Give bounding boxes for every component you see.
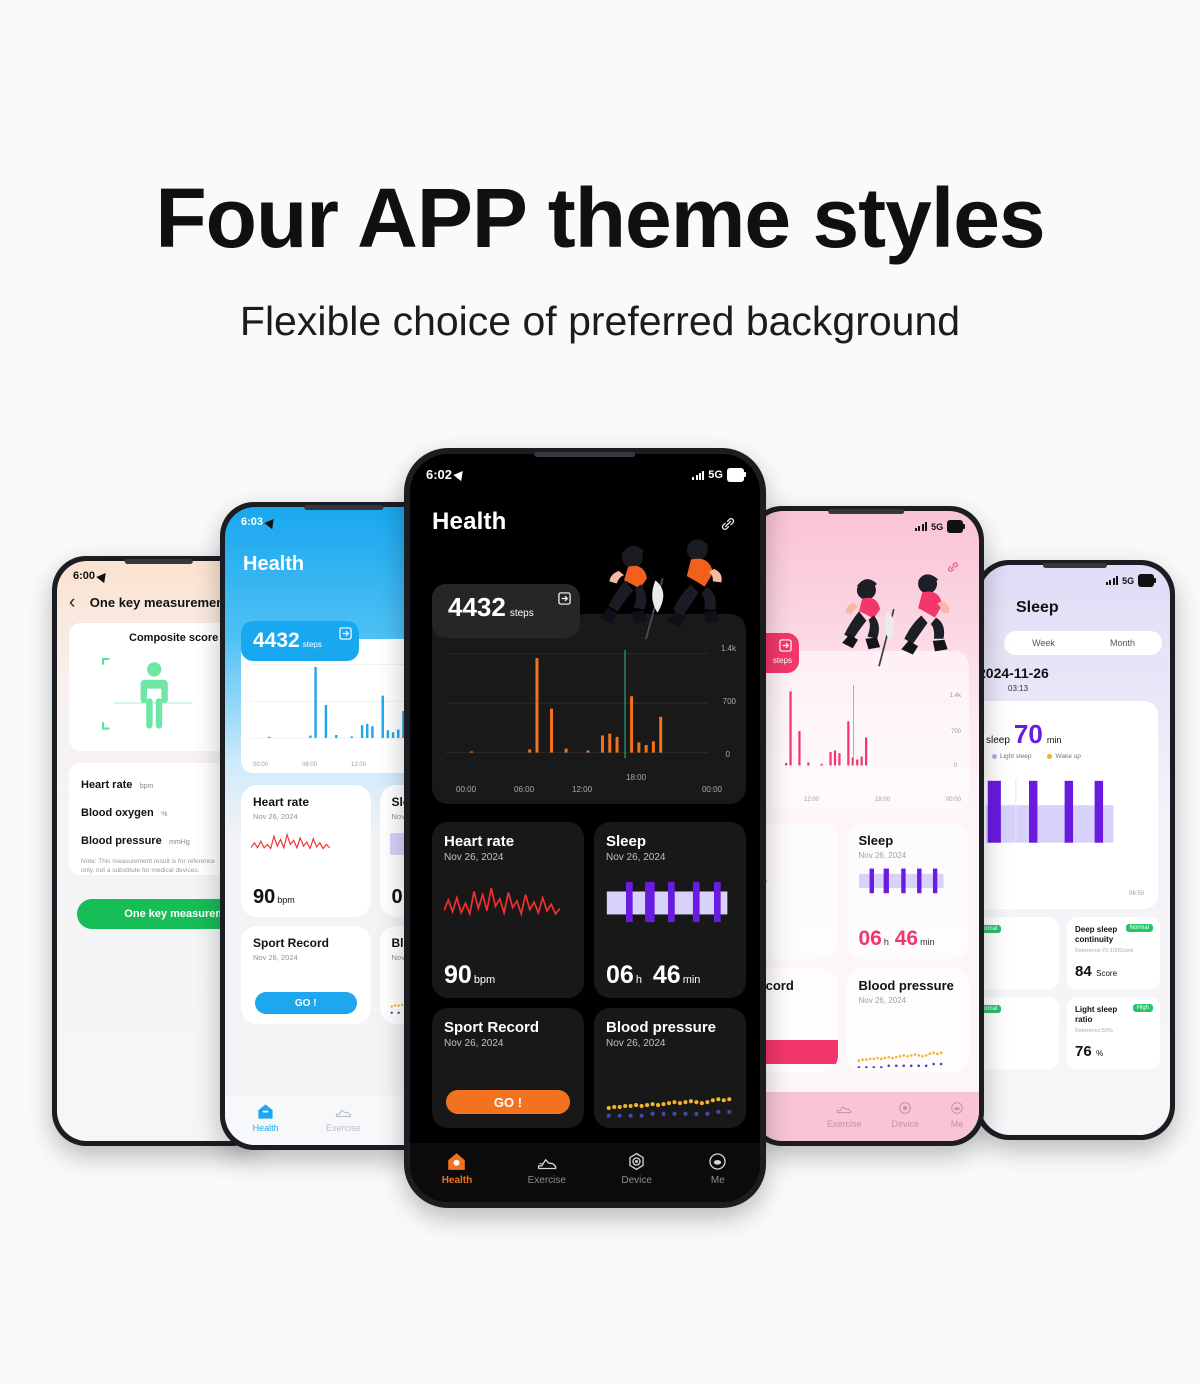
measurement-note: Note: This measurement result is for ref… [81, 857, 219, 876]
bottom-nav: Exercise Device Me [753, 1092, 979, 1141]
steps-card[interactable]: 4432 steps [241, 621, 359, 661]
steps-chart-card[interactable]: 1.4k 700 0 00:00 06:00 12:00 18:00 00:00 [432, 614, 746, 804]
heart-rate-line-icon [251, 829, 333, 855]
tab-week[interactable]: Week [1004, 631, 1083, 655]
signal-bars-icon [1106, 576, 1118, 585]
go-button[interactable]: GO ! [255, 992, 357, 1014]
steps-bar-chart [753, 685, 895, 769]
network-label: 5G [708, 469, 723, 481]
card-date: Nov 26, 2024 [606, 1038, 734, 1049]
status-badge: Normal [1126, 924, 1153, 932]
card-title: Deep sleep continuity [1075, 925, 1133, 946]
tab-label: Exercise [326, 1123, 361, 1133]
y-tick: 0 [954, 763, 957, 769]
tab-label: Device [891, 1119, 919, 1129]
metric-unit: % [161, 811, 167, 818]
sleep-stage-chart [984, 769, 1134, 847]
metric-label: Heart rate [81, 779, 132, 791]
heart-rate-line-icon [444, 884, 562, 918]
y-tick: 0 [726, 750, 730, 759]
card-value: 06h 46min [859, 928, 935, 949]
tab-month[interactable]: Month [1083, 631, 1162, 655]
link-icon[interactable] [718, 514, 738, 534]
summary-prefix: sleep [986, 735, 1010, 746]
steps-unit: steps [303, 640, 322, 649]
summary-value: 70 [1014, 721, 1043, 747]
bp-dots-icon [857, 1048, 943, 1068]
x-tick: 12:00 [804, 797, 819, 803]
chart-time-label: 06:50 [1129, 891, 1144, 897]
segment-label: Month [1110, 638, 1135, 648]
phone-earpiece [125, 559, 193, 564]
tab-label: Exercise [528, 1175, 566, 1186]
card-title: Light sleep ratio [1075, 1005, 1133, 1026]
bottom-nav: Health Exercise Device [410, 1143, 760, 1202]
shoe-icon [335, 1103, 352, 1120]
two-runners-icon [817, 567, 977, 683]
x-tick: 18:00 [875, 797, 890, 803]
tab-exercise[interactable]: Exercise [827, 1100, 862, 1129]
shoe-icon [836, 1100, 852, 1116]
phone-sleep-purple: 5G 81 Sleep Week Month 2024-11-26 03:13 … [975, 560, 1175, 1140]
tab-label: Device [621, 1175, 652, 1186]
legend-wake-up: Wake up [1047, 753, 1080, 760]
steps-unit: steps [773, 656, 792, 665]
steps-card[interactable]: 4432 steps [432, 584, 580, 638]
blood-pressure-card[interactable]: Blood pressure Nov 26, 2024 [847, 968, 970, 1072]
go-label: GO ! [494, 1095, 522, 1110]
card-reference: Reference:50% [1075, 1028, 1152, 1034]
card-date: Nov 26, 2024 [859, 996, 958, 1005]
card-value: 90bpm [253, 887, 295, 907]
y-tick: 1.4k [950, 693, 961, 699]
tab-me[interactable]: Me [949, 1100, 965, 1129]
device-icon [626, 1151, 647, 1172]
period-segmented-control: Week Month [1004, 631, 1162, 655]
phone-earpiece [1043, 563, 1107, 568]
status-badge: High [1133, 1004, 1153, 1012]
device-icon [897, 1100, 913, 1116]
export-icon[interactable] [558, 592, 571, 605]
export-icon[interactable] [779, 639, 792, 652]
network-label: 5G [931, 522, 943, 532]
battery-indicator: 81 [1138, 574, 1154, 587]
phone-earpiece [534, 452, 635, 457]
card-title: Heart rate [444, 833, 572, 850]
status-time: 6:00 [73, 570, 95, 582]
x-tick: 00:00 [456, 785, 476, 794]
legend-label: Wake up [1055, 753, 1080, 760]
person-icon [707, 1151, 728, 1172]
segment-label: Week [1032, 638, 1055, 648]
steps-value: 4432 [253, 630, 300, 651]
card-title: Blood pressure [859, 979, 958, 994]
card-value: 0 [392, 887, 403, 907]
battery-indicator: 80 [727, 468, 744, 482]
detail-card-left[interactable]: Normal [980, 917, 1059, 989]
sleep-summary-card[interactable]: sleep 70 min Light sleep Wake up [980, 701, 1158, 909]
sport-record-card[interactable]: Sport Record Nov 26, 2024 GO ! [432, 1008, 584, 1128]
card-date: Nov 26, 2024 [859, 851, 958, 860]
steps-bar-chart [446, 650, 708, 760]
card-title: Sport Record [444, 1019, 572, 1036]
battery-indicator: 80 [947, 520, 963, 533]
tab-exercise[interactable]: Exercise [528, 1151, 566, 1186]
legend-label: Light sleep [1000, 753, 1031, 760]
page-title: Health [243, 553, 304, 576]
card-date: Nov 26, 2024 [444, 1038, 572, 1049]
go-label: GO ! [295, 998, 317, 1009]
card-reference: Reference:70-100Score [1075, 948, 1152, 954]
signal-bars-icon [915, 522, 927, 531]
metric-label: Blood pressure [81, 835, 162, 847]
phone-earpiece [304, 505, 383, 510]
page-title: Sleep [1016, 599, 1059, 617]
heart-rate-card[interactable]: Heart rate Nov 26, 2024 90bpm [241, 785, 371, 917]
shoe-icon [536, 1151, 557, 1172]
home-heart-icon [257, 1103, 274, 1120]
card-value: 76 [1075, 1043, 1092, 1060]
tab-label: Me [951, 1119, 964, 1129]
detail-card-left[interactable]: Normal [980, 997, 1059, 1069]
page-title: Health [432, 508, 507, 536]
location-arrow-icon [264, 515, 277, 528]
composite-score-label: Composite score [129, 632, 218, 644]
summary-unit: min [1047, 735, 1062, 745]
steps-unit: steps [510, 608, 534, 619]
x-tick: 00:00 [253, 762, 268, 768]
sleep-time: 03:13 [1008, 684, 1028, 693]
card-title: Sleep [859, 834, 958, 849]
card-date: Nov 26, 2024 [253, 812, 359, 821]
card-title: Sleep [606, 833, 734, 850]
export-icon[interactable] [339, 627, 352, 640]
location-arrow-icon [96, 569, 109, 582]
x-tick: 12:00 [351, 762, 366, 768]
tab-health[interactable]: Health [442, 1151, 473, 1186]
network-label: 5G [1122, 576, 1134, 586]
person-icon [949, 1100, 965, 1116]
sleep-date: 2024-11-26 [980, 665, 1049, 681]
signal-bars-icon [692, 469, 704, 480]
status-time: 6:03 [241, 516, 263, 528]
go-button[interactable]: GO ! [446, 1090, 570, 1114]
metric-cards-grid: Heart rate Nov 26, 2024 90bpm Sleep Nov … [432, 822, 746, 1128]
card-unit: % [1096, 1049, 1103, 1058]
card-title: Blood pressure [606, 1019, 734, 1036]
deep-sleep-continuity-card[interactable]: Normal Deep sleep continuity Reference:7… [1067, 917, 1160, 989]
y-tick: 700 [951, 729, 961, 735]
sleep-card[interactable]: Sleep Nov 26, 2024 06h [594, 822, 746, 998]
tab-label: Me [711, 1175, 725, 1186]
tab-me[interactable]: Me [707, 1151, 728, 1186]
tab-device[interactable]: Device [891, 1100, 919, 1129]
phone-health-dark: 6:02 5G 80 Health [404, 448, 766, 1208]
metric-unit: mmHg [169, 839, 190, 846]
status-bar: 5G 80 [753, 511, 979, 533]
phone-health-pink: 5G 80 [748, 506, 984, 1146]
metric-label: Blood oxygen [81, 807, 154, 819]
card-title: Sport Record [253, 937, 359, 951]
x-tick: 00:00 [946, 797, 961, 803]
status-time: 6:02 [426, 467, 452, 482]
location-arrow-icon [453, 468, 466, 481]
card-date: Nov 26, 2024 [444, 852, 572, 863]
phone-showcase: 6:00 ‹ One key measurement Composite sco… [0, 0, 1200, 1384]
y-tick: 1.4k [721, 644, 736, 653]
x-tick: 06:00 [302, 762, 317, 768]
card-unit: Score [1096, 969, 1117, 978]
sport-record-card[interactable]: Sport Record Nov 26, 2024 GO ! [241, 926, 371, 1024]
tab-health[interactable]: Health [253, 1103, 279, 1133]
status-bar: 5G 81 [980, 565, 1170, 587]
home-heart-icon [446, 1151, 467, 1172]
phone-earpiece [828, 509, 904, 514]
tab-device[interactable]: Device [621, 1151, 652, 1186]
light-sleep-ratio-card[interactable]: High Light sleep ratio Reference:50% 76 … [1067, 997, 1160, 1069]
card-date: Nov 26, 2024 [253, 953, 359, 962]
status-bar: 6:02 5G 80 [410, 454, 760, 482]
steps-value: 4432 [448, 594, 506, 620]
metric-unit: bpm [140, 783, 154, 790]
card-title: Heart rate [253, 796, 359, 810]
x-tick: 12:00 [572, 785, 592, 794]
tab-exercise[interactable]: Exercise [326, 1103, 361, 1133]
tab-label: Health [442, 1175, 473, 1186]
tab-label: Health [253, 1123, 279, 1133]
body-figure-icon [95, 647, 215, 743]
legend-light-sleep: Light sleep [992, 753, 1031, 760]
bp-dots-icon [606, 1094, 732, 1122]
sleep-card[interactable]: Sleep Nov 26, 2024 06h 46min [847, 823, 970, 959]
blood-pressure-card[interactable]: Blood pressure Nov 26, 2024 [594, 1008, 746, 1128]
sleep-bars-icon [859, 865, 947, 895]
x-tick: 18:00 [626, 773, 646, 782]
card-value: 84 [1075, 963, 1092, 980]
sleep-bars-icon [606, 880, 732, 924]
card-value: 90bpm [444, 963, 495, 988]
x-tick: 00:00 [702, 785, 722, 794]
y-tick: 700 [723, 697, 736, 706]
tab-label: Exercise [827, 1119, 862, 1129]
heart-rate-card[interactable]: Heart rate Nov 26, 2024 90bpm [432, 822, 584, 998]
card-date: Nov 26, 2024 [606, 852, 734, 863]
card-value: 06h 46min [606, 963, 700, 988]
x-tick: 06:00 [514, 785, 534, 794]
